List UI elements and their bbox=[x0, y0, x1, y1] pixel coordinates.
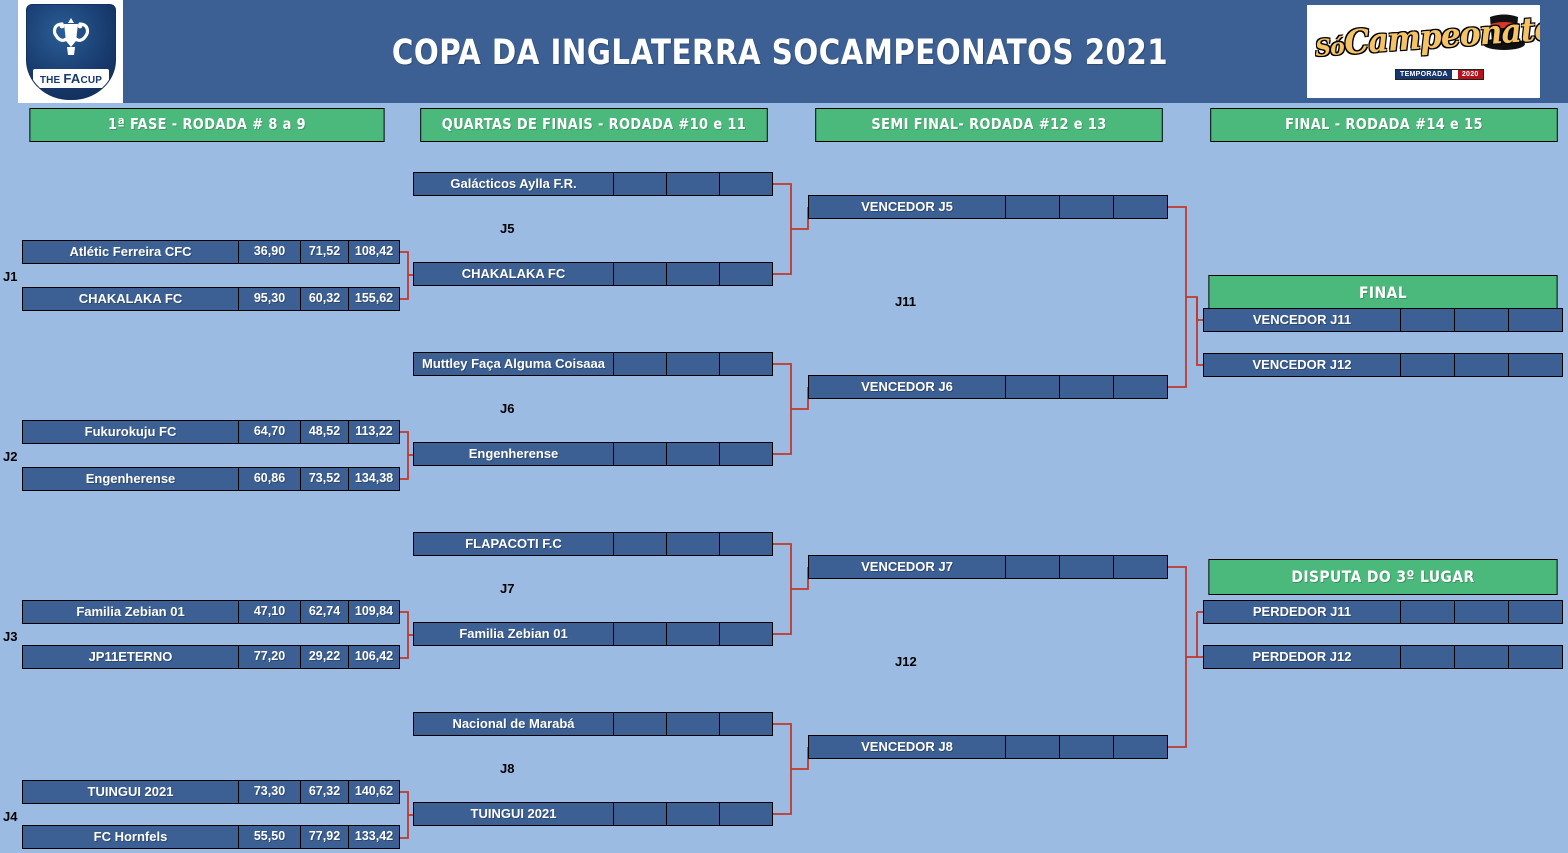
round-header-1: 1ª FASE - RODADA # 8 a 9 bbox=[29, 108, 384, 142]
page-title: COPA DA INGLATERRA SOCAMPEONATOS 2021 bbox=[296, 22, 1263, 84]
score-total[interactable]: 133,42 bbox=[348, 826, 399, 848]
score-total[interactable]: 108,42 bbox=[348, 241, 399, 263]
score-leg2[interactable] bbox=[1454, 601, 1508, 623]
badge-temporada: TEMPORADA bbox=[1396, 70, 1452, 79]
score-leg1[interactable] bbox=[613, 533, 666, 555]
crest-cup: CUP bbox=[80, 75, 102, 86]
team-name: Galácticos Aylla F.R. bbox=[414, 173, 613, 195]
fa-cup-crest: THE FACUP bbox=[18, 0, 123, 103]
team-name: VENCEDOR J7 bbox=[809, 556, 1005, 578]
trophy-icon bbox=[48, 15, 94, 63]
match-slot[interactable]: Fukurokuju FC 64,70 48,52 113,22 bbox=[22, 420, 400, 444]
match-id-label: J6 bbox=[500, 401, 514, 416]
team-name: FC Hornfels bbox=[23, 826, 238, 848]
match-id-label: J5 bbox=[500, 221, 514, 236]
score-total[interactable] bbox=[1113, 556, 1167, 578]
score-leg2[interactable]: 29,22 bbox=[300, 646, 348, 668]
score-leg1[interactable]: 73,30 bbox=[238, 781, 300, 803]
final-title: FINAL bbox=[1208, 275, 1557, 311]
match-slot[interactable]: TUINGUI 2021 73,30 67,32 140,62 bbox=[22, 780, 400, 804]
match-slot[interactable]: VENCEDOR J11 bbox=[1203, 308, 1563, 332]
score-leg2[interactable] bbox=[666, 263, 719, 285]
score-total[interactable] bbox=[719, 533, 772, 555]
team-name: Fukurokuju FC bbox=[23, 421, 238, 443]
match-slot[interactable]: VENCEDOR J8 bbox=[808, 735, 1168, 759]
team-name: TUINGUI 2021 bbox=[23, 781, 238, 803]
team-name: Engenherense bbox=[23, 468, 238, 490]
score-leg1[interactable] bbox=[613, 803, 666, 825]
score-total[interactable] bbox=[719, 173, 772, 195]
match-id-label: J1 bbox=[3, 269, 17, 284]
score-leg2[interactable] bbox=[1454, 646, 1508, 668]
logo-campeonatos: Campeonatos bbox=[1343, 7, 1540, 62]
score-leg1[interactable]: 77,20 bbox=[238, 646, 300, 668]
match-id-label: J2 bbox=[3, 449, 17, 464]
score-leg2[interactable] bbox=[666, 713, 719, 735]
score-total[interactable] bbox=[1113, 376, 1167, 398]
match-id-label: J12 bbox=[895, 654, 917, 669]
score-total[interactable] bbox=[719, 803, 772, 825]
match-slot[interactable]: CHAKALAKA FC 95,30 60,32 155,62 bbox=[22, 287, 400, 311]
match-slot[interactable]: JP11ETERNO 77,20 29,22 106,42 bbox=[22, 645, 400, 669]
score-total[interactable]: 134,38 bbox=[348, 468, 399, 490]
score-leg1[interactable]: 55,50 bbox=[238, 826, 300, 848]
match-slot[interactable]: Muttley Faça Alguma Coisaaa bbox=[413, 352, 773, 376]
score-total[interactable] bbox=[719, 443, 772, 465]
score-total[interactable] bbox=[1113, 736, 1167, 758]
match-id-label: J7 bbox=[500, 581, 514, 596]
score-leg2[interactable]: 71,52 bbox=[300, 241, 348, 263]
score-leg2[interactable]: 62,74 bbox=[300, 601, 348, 623]
logo-wordmark: SóCampeonatos bbox=[1314, 11, 1520, 64]
score-leg2[interactable] bbox=[666, 443, 719, 465]
score-leg2[interactable] bbox=[1454, 354, 1508, 376]
score-leg1[interactable]: 36,90 bbox=[238, 241, 300, 263]
crest-fa: FA bbox=[63, 71, 80, 86]
score-leg2[interactable] bbox=[1059, 556, 1113, 578]
match-slot[interactable]: VENCEDOR J12 bbox=[1203, 353, 1563, 377]
score-leg1[interactable] bbox=[1400, 646, 1454, 668]
badge-year: 2020 bbox=[1458, 70, 1483, 79]
match-slot[interactable]: Engenherense bbox=[413, 442, 773, 466]
score-leg2[interactable]: 77,92 bbox=[300, 826, 348, 848]
team-name: Atlétic Ferreira CFC bbox=[23, 241, 238, 263]
score-leg1[interactable] bbox=[1400, 309, 1454, 331]
header-left-margin bbox=[0, 0, 18, 103]
match-slot[interactable]: Nacional de Marabá bbox=[413, 712, 773, 736]
score-leg2[interactable] bbox=[666, 803, 719, 825]
team-name: VENCEDOR J11 bbox=[1204, 309, 1400, 331]
score-leg2[interactable] bbox=[1454, 309, 1508, 331]
score-total[interactable] bbox=[719, 263, 772, 285]
match-id-label: J4 bbox=[3, 809, 17, 824]
score-total[interactable]: 155,62 bbox=[348, 288, 399, 310]
logo-season-badge: TEMPORADA 2020 bbox=[1395, 69, 1484, 80]
score-total[interactable]: 113,22 bbox=[348, 421, 399, 443]
match-slot[interactable]: FLAPACOTI F.C bbox=[413, 532, 773, 556]
match-id-label: J3 bbox=[3, 629, 17, 644]
score-leg2[interactable]: 48,52 bbox=[300, 421, 348, 443]
score-leg1[interactable] bbox=[1005, 376, 1059, 398]
team-name: Nacional de Marabá bbox=[414, 713, 613, 735]
match-slot[interactable]: Familia Zebian 01 47,10 62,74 109,84 bbox=[22, 600, 400, 624]
match-slot[interactable]: Engenherense 60,86 73,52 134,38 bbox=[22, 467, 400, 491]
crest-the: THE bbox=[40, 75, 64, 86]
score-total[interactable] bbox=[719, 623, 772, 645]
team-name: VENCEDOR J5 bbox=[809, 196, 1005, 218]
score-leg2[interactable]: 67,32 bbox=[300, 781, 348, 803]
score-leg1[interactable] bbox=[613, 443, 666, 465]
score-leg1[interactable] bbox=[613, 353, 666, 375]
match-slot[interactable]: CHAKALAKA FC bbox=[413, 262, 773, 286]
round-header-4: FINAL - RODADA #14 e 15 bbox=[1210, 108, 1558, 142]
score-leg2[interactable]: 60,32 bbox=[300, 288, 348, 310]
match-slot[interactable]: VENCEDOR J7 bbox=[808, 555, 1168, 579]
score-leg2[interactable] bbox=[1059, 736, 1113, 758]
match-slot[interactable]: Galácticos Aylla F.R. bbox=[413, 172, 773, 196]
round-header-3: SEMI FINAL- RODADA #12 e 13 bbox=[815, 108, 1163, 142]
third-place-title: DISPUTA DO 3º LUGAR bbox=[1208, 559, 1557, 595]
score-leg1[interactable] bbox=[613, 173, 666, 195]
team-name: Familia Zebian 01 bbox=[23, 601, 238, 623]
match-id-label: J11 bbox=[895, 294, 916, 309]
crest-shield: THE FACUP bbox=[26, 4, 116, 100]
score-leg1[interactable]: 95,30 bbox=[238, 288, 300, 310]
score-leg2[interactable] bbox=[666, 623, 719, 645]
match-id-label: J8 bbox=[500, 761, 514, 776]
score-leg1[interactable] bbox=[1005, 196, 1059, 218]
team-name: VENCEDOR J8 bbox=[809, 736, 1005, 758]
team-name: JP11ETERNO bbox=[23, 646, 238, 668]
bracket-page: THE FACUP COPA DA INGLATERRA SOCAMPEONAT… bbox=[0, 0, 1568, 853]
score-total[interactable] bbox=[1508, 309, 1562, 331]
team-name: CHAKALAKA FC bbox=[23, 288, 238, 310]
team-name: Familia Zebian 01 bbox=[414, 623, 613, 645]
so-campeonatos-logo: SóCampeonatos TEMPORADA 2020 bbox=[1307, 5, 1540, 98]
score-leg2[interactable] bbox=[1059, 196, 1113, 218]
score-leg1[interactable] bbox=[613, 713, 666, 735]
team-name: TUINGUI 2021 bbox=[414, 803, 613, 825]
team-name: FLAPACOTI F.C bbox=[414, 533, 613, 555]
match-slot[interactable]: FC Hornfels 55,50 77,92 133,42 bbox=[22, 825, 400, 849]
match-slot[interactable]: TUINGUI 2021 bbox=[413, 802, 773, 826]
team-name: PERDEDOR J11 bbox=[1204, 601, 1400, 623]
score-leg1[interactable] bbox=[613, 263, 666, 285]
match-slot[interactable]: VENCEDOR J6 bbox=[808, 375, 1168, 399]
score-leg1[interactable]: 60,86 bbox=[238, 468, 300, 490]
score-leg2[interactable] bbox=[666, 173, 719, 195]
team-name: VENCEDOR J6 bbox=[809, 376, 1005, 398]
score-leg1[interactable] bbox=[613, 623, 666, 645]
team-name: PERDEDOR J12 bbox=[1204, 646, 1400, 668]
score-leg2[interactable] bbox=[666, 353, 719, 375]
round-header-2: QUARTAS DE FINAIS - RODADA #10 e 11 bbox=[420, 108, 768, 142]
score-leg1[interactable] bbox=[1005, 556, 1059, 578]
score-leg1[interactable]: 47,10 bbox=[238, 601, 300, 623]
score-total[interactable]: 140,62 bbox=[348, 781, 399, 803]
score-leg1[interactable] bbox=[1400, 601, 1454, 623]
score-total[interactable] bbox=[1113, 196, 1167, 218]
score-leg1[interactable] bbox=[1005, 736, 1059, 758]
score-leg2[interactable] bbox=[666, 533, 719, 555]
score-total[interactable] bbox=[1508, 354, 1562, 376]
score-leg1[interactable]: 64,70 bbox=[238, 421, 300, 443]
team-name: CHAKALAKA FC bbox=[414, 263, 613, 285]
team-name: Engenherense bbox=[414, 443, 613, 465]
score-total[interactable]: 109,84 bbox=[348, 601, 399, 623]
crest-label: THE FACUP bbox=[33, 69, 109, 88]
team-name: Muttley Faça Alguma Coisaaa bbox=[414, 353, 613, 375]
score-leg2[interactable] bbox=[1059, 376, 1113, 398]
logo-so: Só bbox=[1314, 33, 1344, 62]
score-total[interactable]: 106,42 bbox=[348, 646, 399, 668]
score-leg2[interactable]: 73,52 bbox=[300, 468, 348, 490]
match-slot[interactable]: VENCEDOR J5 bbox=[808, 195, 1168, 219]
match-slot[interactable]: PERDEDOR J11 bbox=[1203, 600, 1563, 624]
score-total[interactable] bbox=[1508, 646, 1562, 668]
match-slot[interactable]: Familia Zebian 01 bbox=[413, 622, 773, 646]
score-total[interactable] bbox=[719, 713, 772, 735]
score-total[interactable] bbox=[1508, 601, 1562, 623]
match-slot[interactable]: Atlétic Ferreira CFC 36,90 71,52 108,42 bbox=[22, 240, 400, 264]
score-leg1[interactable] bbox=[1400, 354, 1454, 376]
team-name: VENCEDOR J12 bbox=[1204, 354, 1400, 376]
match-slot[interactable]: PERDEDOR J12 bbox=[1203, 645, 1563, 669]
score-total[interactable] bbox=[719, 353, 772, 375]
